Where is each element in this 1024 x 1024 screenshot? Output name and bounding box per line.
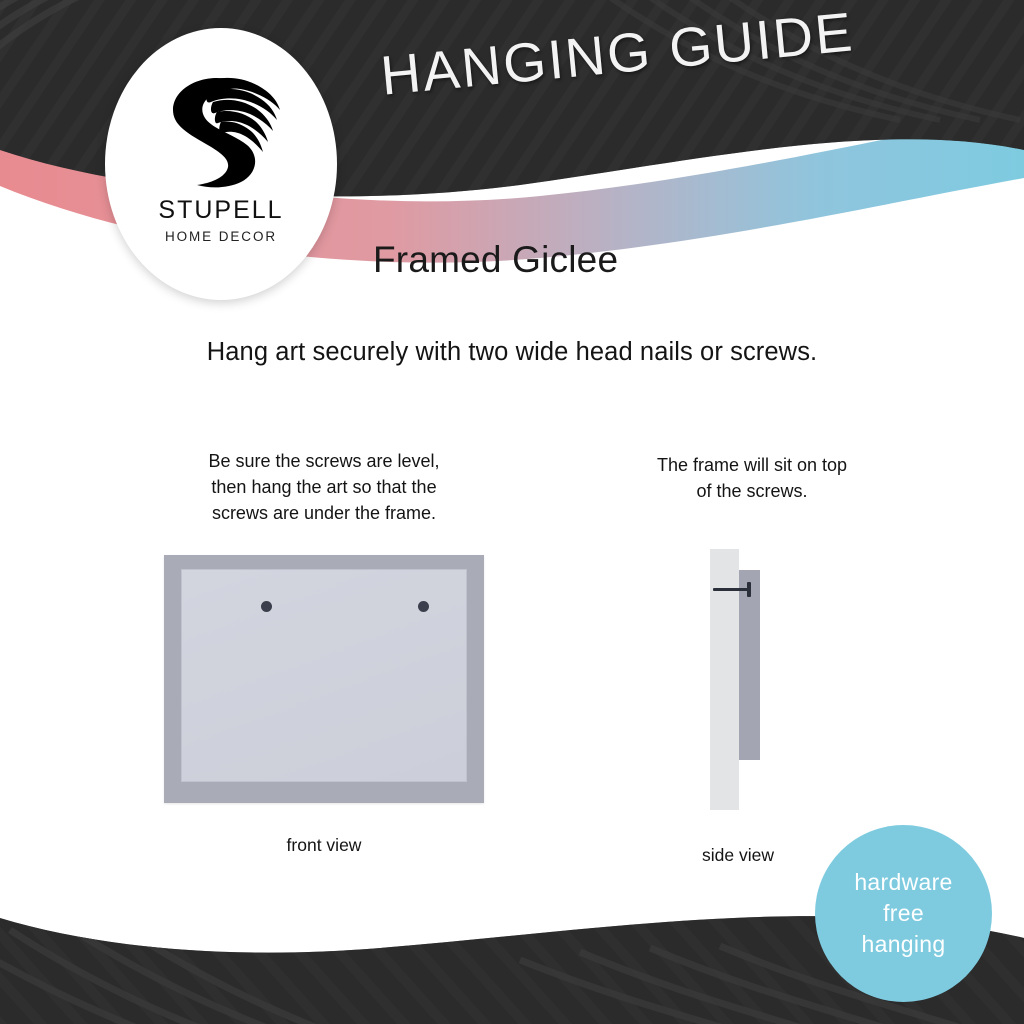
brand-logo-badge: STUPELL HOME DECOR (105, 28, 337, 300)
screw-dot-right (418, 601, 429, 612)
side-view-frame (739, 570, 760, 760)
badge-line: free (883, 898, 924, 929)
front-view-mat (181, 569, 467, 782)
caption-line: Be sure the screws are level, (178, 448, 470, 474)
nail-shaft-icon (713, 588, 749, 591)
side-view-label: side view (618, 845, 858, 866)
logo-wordmark: STUPELL (158, 196, 283, 225)
logo-subtitle: HOME DECOR (165, 229, 277, 244)
caption-line: The frame will sit on top (612, 452, 892, 478)
screw-dot-left (261, 601, 272, 612)
badge-line: hanging (862, 929, 946, 960)
side-view-diagram (690, 540, 800, 820)
main-instruction: Hang art securely with two wide head nai… (0, 338, 1024, 367)
caption-line: then hang the art so that the (178, 474, 470, 500)
hardware-free-badge: hardware free hanging (815, 825, 992, 1002)
hanging-guide-page: STUPELL HOME DECOR HANGING GUIDE Framed … (0, 0, 1024, 1024)
stupell-swoosh-icon (161, 58, 281, 190)
caption-line: screws are under the frame. (178, 500, 470, 526)
product-name: Framed Giclee (373, 239, 618, 281)
page-title: HANGING GUIDE (378, 0, 857, 108)
badge-line: hardware (854, 867, 952, 898)
side-view-caption: The frame will sit on top of the screws. (612, 452, 892, 504)
front-view-caption: Be sure the screws are level, then hang … (178, 448, 470, 526)
front-view-diagram (164, 555, 484, 803)
nail-head-icon (747, 582, 751, 597)
caption-line: of the screws. (612, 478, 892, 504)
front-view-label: front view (178, 835, 470, 856)
